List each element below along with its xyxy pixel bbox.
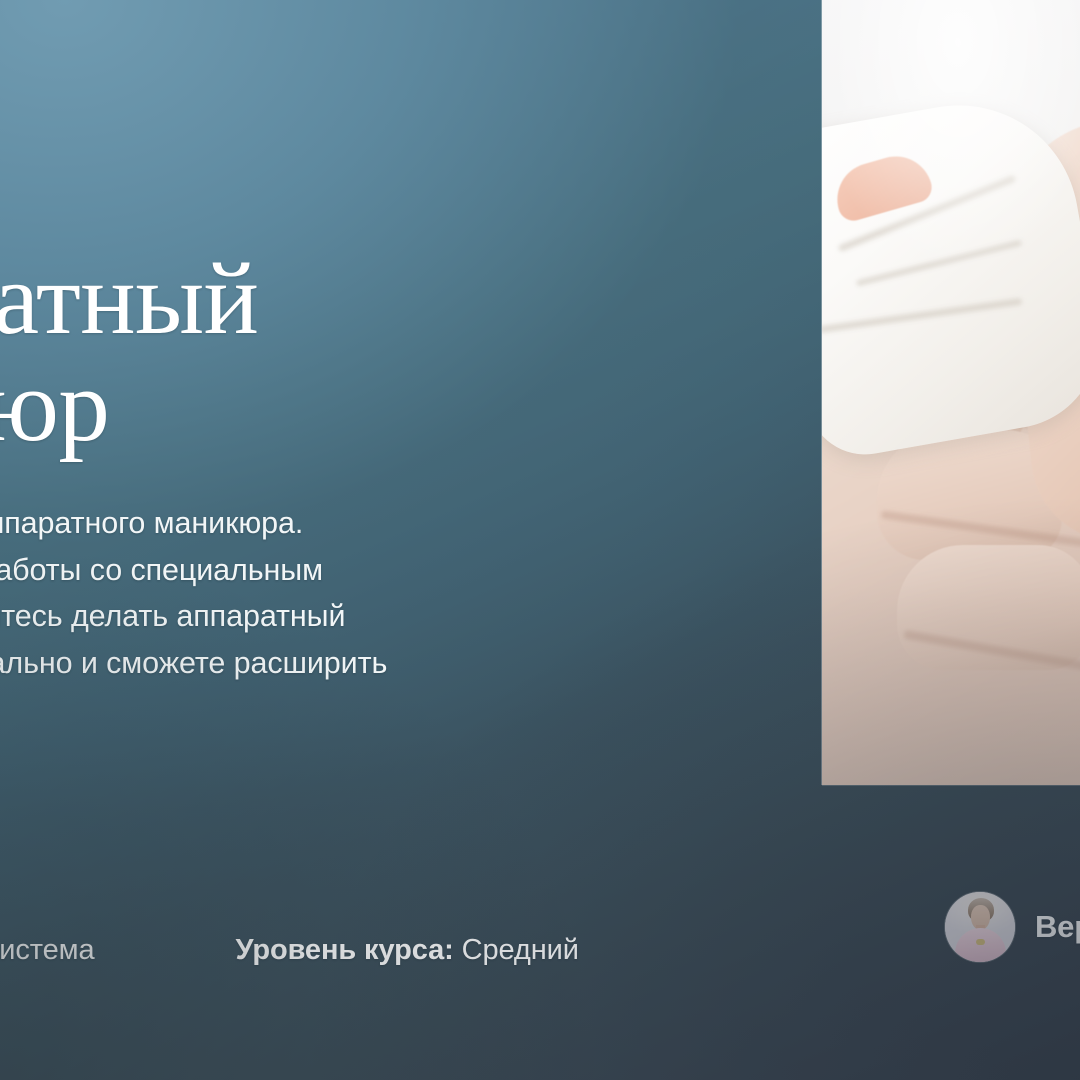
meta-course-level-value: Средний: [462, 934, 579, 966]
avatar-necklace: [976, 939, 985, 945]
author-name: Вероника: [1035, 909, 1080, 945]
meta-bonus-system-label: Бонусная система: [0, 934, 95, 966]
page-title: Аппаратный маникюр: [0, 246, 474, 460]
course-description: Изучите технологии аппаратного маникюра.…: [0, 500, 513, 733]
hero-photo: [822, 0, 1080, 785]
meta-course-level: Уровень курса: Средний: [236, 933, 579, 967]
meta-course-level-label: Уровень курса:: [236, 934, 454, 966]
course-meta-row: Бонусная система Уровень курса: Средний: [0, 933, 579, 967]
author-block: Вероника: [945, 892, 1080, 962]
photo-tissue-wrap: [822, 86, 1080, 463]
course-slide: Аппаратный маникюр Изучите технологии ап…: [0, 0, 1080, 1080]
meta-bonus-system: Бонусная система: [0, 933, 95, 967]
avatar: [945, 892, 1015, 962]
